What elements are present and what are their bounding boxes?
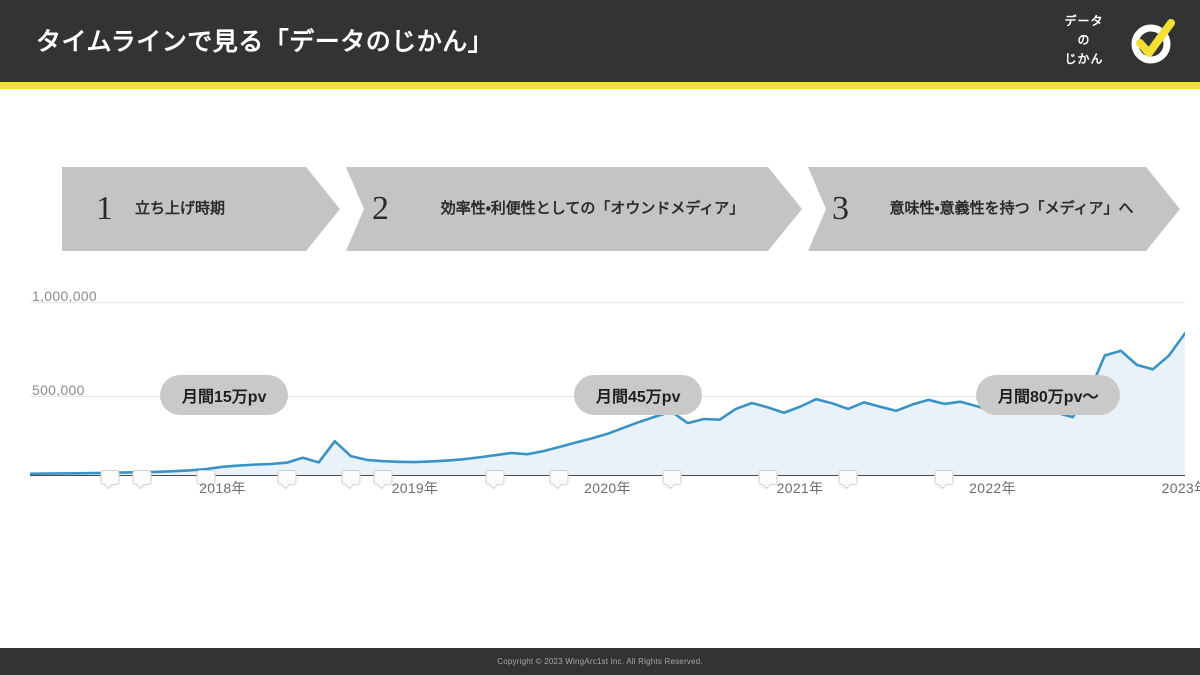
axis-event-marker[interactable] bbox=[486, 470, 505, 485]
x-axis-tick-2020: 2020年 bbox=[584, 478, 631, 498]
annotation-pill-1[interactable]: 月間15万pv bbox=[160, 375, 288, 415]
axis-event-marker[interactable] bbox=[839, 470, 858, 485]
process-step-1[interactable]: 1 立ち上げ時期 bbox=[62, 167, 340, 251]
process-step-3-number: 3 bbox=[832, 192, 849, 226]
axis-event-marker[interactable] bbox=[277, 470, 296, 485]
x-axis-tick-2022: 2022年 bbox=[969, 478, 1016, 498]
process-step-3[interactable]: 3 意味性・意義性を持つ「メディア」へ bbox=[808, 167, 1180, 251]
axis-event-marker[interactable] bbox=[550, 470, 569, 485]
brand-logo: データ の じかん bbox=[1048, 10, 1180, 74]
process-step-2[interactable]: 2 効率性・利便性としての「オウンドメディア」 bbox=[346, 167, 802, 251]
process-step-2-number: 2 bbox=[372, 192, 389, 226]
slide-root: タイムラインで見る「データのじかん」 データ の じかん 1 立ち上げ時期 2 … bbox=[0, 0, 1200, 675]
logo-text-block: データ の じかん bbox=[1048, 12, 1120, 69]
process-step-1-number: 1 bbox=[96, 192, 113, 226]
axis-event-marker[interactable] bbox=[758, 470, 777, 485]
x-axis-tick-2023: 2023年 bbox=[1162, 478, 1200, 498]
logo-line-3: じかん bbox=[1048, 50, 1120, 69]
process-step-3-label: 意味性・意義性を持つ「メディア」へ bbox=[865, 199, 1180, 219]
axis-event-marker[interactable] bbox=[662, 470, 681, 485]
process-step-1-label: 立ち上げ時期 bbox=[135, 199, 340, 219]
x-axis-tick-2021: 2021年 bbox=[777, 478, 824, 498]
axis-event-marker[interactable] bbox=[101, 470, 120, 485]
chart-plot bbox=[30, 292, 1185, 542]
check-circle-icon bbox=[1126, 16, 1176, 66]
header-accent-bar bbox=[0, 82, 1200, 89]
page-title: タイムラインで見る「データのじかん」 bbox=[36, 22, 493, 58]
process-step-2-label: 効率性・利便性としての「オウンドメディア」 bbox=[405, 199, 802, 219]
process-chevron-bar: 1 立ち上げ時期 2 効率性・利便性としての「オウンドメディア」 3 意味性・意… bbox=[0, 167, 1200, 251]
copyright-text: Copyright © 2023 WingArc1st Inc. All Rig… bbox=[497, 657, 702, 666]
axis-event-marker[interactable] bbox=[341, 470, 360, 485]
axis-event-marker[interactable] bbox=[373, 470, 392, 485]
axis-event-marker[interactable] bbox=[133, 470, 152, 485]
logo-line-1: データ bbox=[1048, 12, 1120, 31]
annotation-pill-2[interactable]: 月間45万pv bbox=[574, 375, 702, 415]
logo-line-2: の bbox=[1048, 31, 1120, 50]
x-axis-tick-2018: 2018年 bbox=[199, 478, 246, 498]
slide-footer: Copyright © 2023 WingArc1st Inc. All Rig… bbox=[0, 648, 1200, 675]
annotation-pill-3[interactable]: 月間80万pv〜 bbox=[976, 375, 1120, 415]
chart-svg bbox=[30, 292, 1185, 542]
pageview-chart: 1,000,000 500,000 2018年2019年2020年2021年20… bbox=[0, 270, 1200, 510]
axis-event-marker[interactable] bbox=[935, 470, 954, 485]
x-axis-tick-2019: 2019年 bbox=[392, 478, 439, 498]
